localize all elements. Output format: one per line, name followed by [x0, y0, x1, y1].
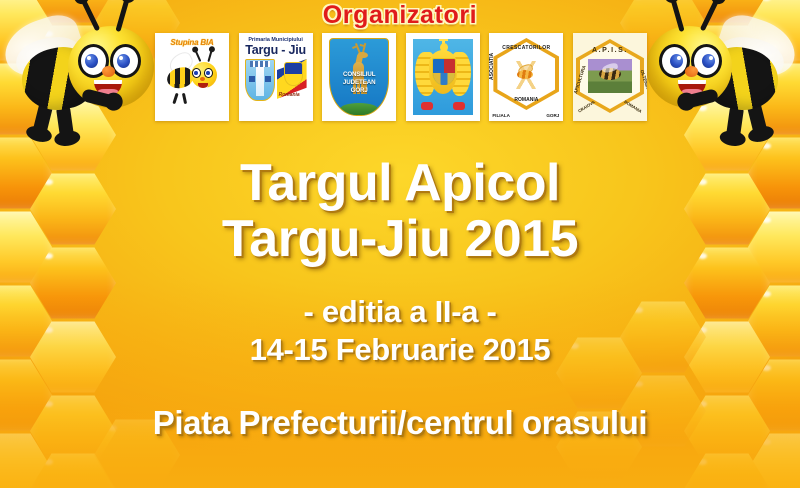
primaria-line2: Targu - Jiu	[245, 43, 306, 57]
event-title-line-1: Targul Apicol	[0, 155, 800, 211]
logo-stupina-bia-title: Stupina BIA	[170, 38, 213, 47]
logo-primaria-targu-jiu: Primaria Municipiului Targu - Jiu Romani…	[239, 33, 313, 121]
apis-honeybee-photo	[588, 59, 632, 93]
primaria-ribbon: Romania	[279, 92, 300, 98]
gorj-line1: CONSILIUL JUDETEAN	[330, 71, 388, 87]
logo-consiliul-judetean-gorj: CONSILIUL JUDETEAN GORJ	[322, 33, 396, 121]
gorj-line2: GORJ	[330, 87, 388, 95]
event-dates: 14-15 Februarie 2015	[0, 331, 800, 369]
targu-jiu-shield-icon	[245, 59, 275, 101]
romania-coat-of-arms-icon	[413, 39, 473, 115]
aca-bottom-text: ROMANIA	[514, 97, 538, 103]
logo-stema-romaniei	[406, 33, 480, 121]
gorj-text: CONSILIUL JUDETEAN GORJ	[330, 71, 388, 95]
event-edition: - editia a II-a -	[0, 293, 800, 331]
event-title-line-2: Targu-Jiu 2015	[0, 211, 800, 267]
organizer-logo-strip: Stupina BIA Primaria Municipiului Targu …	[155, 33, 647, 123]
apis-bottom-left-text: CRAIOVA	[577, 99, 596, 113]
logo-aca-romania-gorj: CRESCATORILOR ASOCIATIA DE ALBINE ROMANI…	[489, 33, 563, 121]
event-venue: Piata Prefecturii/centrul orasului	[0, 404, 800, 442]
romania-flag-crest-icon: Romania	[277, 59, 307, 99]
logo-apis-oltenia: A.P.I.S. APICULTURA OLTENIA CRAIOVA ROMA…	[573, 33, 647, 121]
apis-bottom-right-text: ROMANIA	[623, 99, 643, 114]
aca-gorj-text: GORJ	[546, 113, 559, 118]
apis-name: A.P.I.S.	[573, 47, 647, 54]
aca-top-text: CRESCATORILOR	[502, 45, 550, 51]
gorj-shield-icon: CONSILIUL JUDETEAN GORJ	[329, 38, 389, 116]
stupina-bee-icon	[165, 52, 219, 102]
aca-ring-text: CRESCATORILOR ASOCIATIA DE ALBINE ROMANI…	[489, 33, 563, 121]
poster-canvas: Organizatori Stupina BIA Primaria Munici…	[0, 0, 800, 488]
aca-filiala-text: FILIALA	[492, 113, 510, 118]
aca-left-text: ASOCIATIA	[489, 53, 495, 80]
primaria-crest-row: Romania	[245, 59, 307, 101]
organizers-heading: Organizatori	[0, 1, 800, 30]
logo-stupina-bia: Stupina BIA	[155, 33, 229, 121]
headline-block: Targul Apicol Targu-Jiu 2015 - editia a …	[0, 155, 800, 369]
